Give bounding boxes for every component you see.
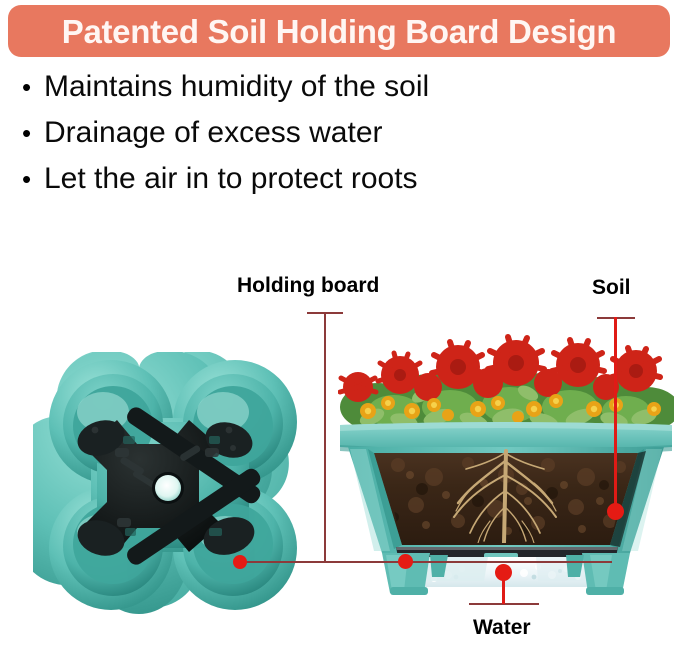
leader-horizontal-holding-board: [240, 561, 612, 563]
bullet-icon: •: [22, 120, 44, 146]
leader-vertical-soil: [614, 317, 617, 513]
callout-label-soil: Soil: [592, 277, 631, 298]
callout-label-holding-board: Holding board: [237, 275, 379, 296]
clover-planter-top-view-image: [33, 352, 313, 634]
page-title: Patented Soil Holding Board Design: [62, 15, 617, 48]
bullet-icon: •: [22, 74, 44, 100]
drain-hole: [155, 475, 181, 501]
leader-vertical-holding-board: [324, 312, 326, 562]
planter-body-section: [348, 447, 664, 553]
bullet-icon: •: [22, 166, 44, 192]
list-item: • Maintains humidity of the soil: [22, 72, 582, 118]
list-item: • Drainage of excess water: [22, 118, 582, 164]
benefit-text: Maintains humidity of the soil: [44, 72, 429, 102]
marker-dot-soil: [607, 503, 624, 520]
marker-dot-holding-board-right: [398, 554, 413, 569]
marker-dot-holding-board-left: [233, 555, 247, 569]
list-item: • Let the air in to protect roots: [22, 164, 582, 210]
header-banner: Patented Soil Holding Board Design: [8, 5, 670, 57]
benefit-text: Let the air in to protect roots: [44, 164, 418, 194]
callout-label-water: Water: [473, 617, 531, 638]
flower-bed: [340, 337, 674, 433]
benefit-text: Drainage of excess water: [44, 118, 383, 148]
benefit-list: • Maintains humidity of the soil • Drain…: [22, 72, 582, 210]
planter-cross-section-image: [338, 325, 674, 605]
leader-vertical-water: [502, 578, 505, 604]
marker-dot-water: [495, 564, 512, 581]
